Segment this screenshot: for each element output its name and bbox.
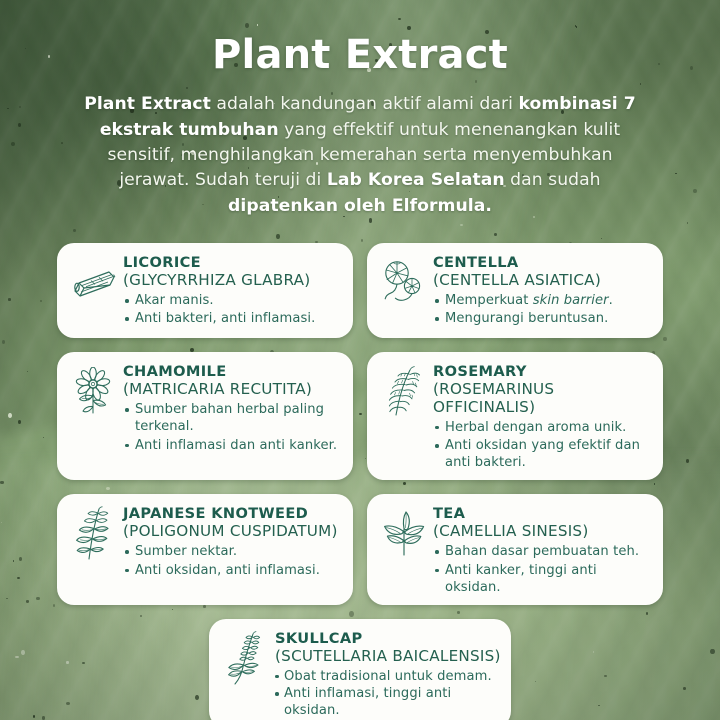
- benefit-item: Anti oksidan yang efektif dan anti bakte…: [433, 437, 653, 471]
- card-text: SKULLCAP(SCUTELLARIA BAICALENSIS)Obat tr…: [275, 628, 501, 720]
- intro-paragraph: Plant Extract adalah kandungan aktif ala…: [80, 92, 640, 218]
- intro-emphasis: Plant Extract: [84, 94, 211, 114]
- ingredient-name: ROSEMARY: [433, 364, 653, 380]
- ingredient-card-licorice[interactable]: LICORICE(GLYCYRRHIZA GLABRA)Akar manis.A…: [57, 243, 353, 338]
- benefit-list: Sumber nektar.Anti oksidan, anti inflama…: [123, 543, 343, 579]
- intro-emphasis: dipatenkan oleh Elformula.: [228, 196, 492, 216]
- card-text: ROSEMARY(ROSEMARINUS OFFICINALIS)Herbal …: [433, 361, 653, 471]
- benefit-text: .: [609, 293, 613, 308]
- benefit-text: Anti inflamasi dan anti kanker.: [135, 438, 337, 453]
- ingredient-name: LICORICE: [123, 255, 343, 271]
- card-text: TEA(CAMELLIA SINESIS)Bahan dasar pembuat…: [433, 503, 653, 596]
- ingredient-card-rosemary[interactable]: ROSEMARY(ROSEMARINUS OFFICINALIS)Herbal …: [367, 352, 663, 480]
- licorice-root-icon: [65, 252, 123, 314]
- ingredient-card-centella[interactable]: CENTELLA(CENTELLA ASIATICA)Memperkuat sk…: [367, 243, 663, 338]
- ingredient-latin-name: (MATRICARIA RECUTITA): [123, 381, 343, 399]
- card-row: SKULLCAP(SCUTELLARIA BAICALENSIS)Obat tr…: [0, 619, 720, 720]
- poster-header: Plant Extract Plant Extract adalah kandu…: [0, 0, 720, 219]
- benefit-item: Anti inflamasi dan anti kanker.: [123, 437, 343, 454]
- intro-text: dan sudah: [505, 170, 601, 190]
- ingredient-name: TEA: [433, 506, 653, 522]
- benefit-item: Anti oksidan, anti inflamasi.: [123, 562, 343, 579]
- plant-extract-poster: Plant Extract Plant Extract adalah kandu…: [0, 0, 720, 720]
- skullcap-flower-icon: [217, 628, 275, 690]
- benefit-text: Sumber bahan herbal paling terkenal.: [135, 402, 324, 434]
- benefit-text: Anti oksidan yang efektif dan anti bakte…: [445, 438, 640, 470]
- rosemary-sprig-icon: [375, 361, 433, 423]
- benefit-list: Akar manis.Anti bakteri, anti inflamasi.: [123, 292, 343, 328]
- benefit-item: Anti bakteri, anti inflamasi.: [123, 310, 343, 327]
- page-title: Plant Extract: [0, 0, 720, 76]
- ingredient-latin-name: (GLYCYRRHIZA GLABRA): [123, 272, 343, 290]
- card-text: CHAMOMILE(MATRICARIA RECUTITA)Sumber bah…: [123, 361, 343, 454]
- benefit-text: Anti inflamasi, tinggi anti oksidan.: [284, 686, 451, 718]
- intro-text: adalah kandungan aktif alami dari: [211, 94, 519, 114]
- benefit-item: Herbal dengan aroma unik.: [433, 419, 653, 436]
- card-text: LICORICE(GLYCYRRHIZA GLABRA)Akar manis.A…: [123, 252, 343, 328]
- benefit-item: Anti kanker, tinggi anti oksidan.: [433, 562, 653, 596]
- ingredient-latin-name: (SCUTELLARIA BAICALENSIS): [275, 648, 501, 666]
- benefit-list: Sumber bahan herbal paling terkenal.Anti…: [123, 401, 343, 454]
- benefit-item: Anti inflamasi, tinggi anti oksidan.: [275, 685, 501, 719]
- card-text: CENTELLA(CENTELLA ASIATICA)Memperkuat sk…: [433, 252, 653, 328]
- intro-emphasis: Lab Korea Selatan: [327, 170, 505, 190]
- benefit-emphasis: skin barrier: [533, 293, 609, 308]
- benefit-text: Anti kanker, tinggi anti oksidan.: [445, 563, 597, 595]
- benefit-text: Obat tradisional untuk demam.: [284, 669, 492, 684]
- benefit-list: Herbal dengan aroma unik.Anti oksidan ya…: [433, 419, 653, 472]
- ingredient-latin-name: (ROSEMARINUS OFFICINALIS): [433, 381, 653, 416]
- benefit-text: Mengurangi beruntusan.: [445, 311, 608, 326]
- centella-leaf-icon: [375, 252, 433, 314]
- ingredient-latin-name: (POLIGONUM CUSPIDATUM): [123, 523, 343, 541]
- ingredient-name: CHAMOMILE: [123, 364, 343, 380]
- ingredient-card-chamomile[interactable]: CHAMOMILE(MATRICARIA RECUTITA)Sumber bah…: [57, 352, 353, 480]
- tea-leaf-icon: [375, 503, 433, 565]
- ingredient-name: JAPANESE KNOTWEED: [123, 506, 343, 522]
- chamomile-flower-icon: [65, 361, 123, 423]
- card-row: LICORICE(GLYCYRRHIZA GLABRA)Akar manis.A…: [0, 243, 720, 338]
- benefit-item: Obat tradisional untuk demam.: [275, 668, 501, 685]
- benefit-item: Sumber nektar.: [123, 543, 343, 560]
- ingredient-name: SKULLCAP: [275, 631, 501, 647]
- benefit-item: Sumber bahan herbal paling terkenal.: [123, 401, 343, 435]
- benefit-text: Herbal dengan aroma unik.: [445, 420, 626, 435]
- ingredient-card-japanese-knotweed[interactable]: JAPANESE KNOTWEED(POLIGONUM CUSPIDATUM)S…: [57, 494, 353, 605]
- ingredient-card-skullcap[interactable]: SKULLCAP(SCUTELLARIA BAICALENSIS)Obat tr…: [209, 619, 511, 720]
- benefit-text: Anti bakteri, anti inflamasi.: [135, 311, 315, 326]
- benefit-text: Anti oksidan, anti inflamasi.: [135, 563, 320, 578]
- benefit-item: Bahan dasar pembuatan teh.: [433, 543, 653, 560]
- ingredient-card-grid: LICORICE(GLYCYRRHIZA GLABRA)Akar manis.A…: [0, 243, 720, 720]
- benefit-text: Memperkuat: [445, 293, 533, 308]
- benefit-list: Memperkuat skin barrier.Mengurangi berun…: [433, 292, 653, 328]
- knotweed-branch-icon: [65, 503, 123, 565]
- benefit-item: Memperkuat skin barrier.: [433, 292, 653, 309]
- benefit-item: Mengurangi beruntusan.: [433, 310, 653, 327]
- card-row: JAPANESE KNOTWEED(POLIGONUM CUSPIDATUM)S…: [0, 494, 720, 605]
- ingredient-latin-name: (CENTELLA ASIATICA): [433, 272, 653, 290]
- benefit-text: Sumber nektar.: [135, 544, 237, 559]
- ingredient-name: CENTELLA: [433, 255, 653, 271]
- benefit-text: Akar manis.: [135, 293, 214, 308]
- card-row: CHAMOMILE(MATRICARIA RECUTITA)Sumber bah…: [0, 352, 720, 480]
- benefit-list: Bahan dasar pembuatan teh.Anti kanker, t…: [433, 543, 653, 596]
- card-text: JAPANESE KNOTWEED(POLIGONUM CUSPIDATUM)S…: [123, 503, 343, 579]
- benefit-item: Akar manis.: [123, 292, 343, 309]
- benefit-list: Obat tradisional untuk demam.Anti inflam…: [275, 668, 501, 720]
- benefit-text: Bahan dasar pembuatan teh.: [445, 544, 639, 559]
- ingredient-card-tea[interactable]: TEA(CAMELLIA SINESIS)Bahan dasar pembuat…: [367, 494, 663, 605]
- ingredient-latin-name: (CAMELLIA SINESIS): [433, 523, 653, 541]
